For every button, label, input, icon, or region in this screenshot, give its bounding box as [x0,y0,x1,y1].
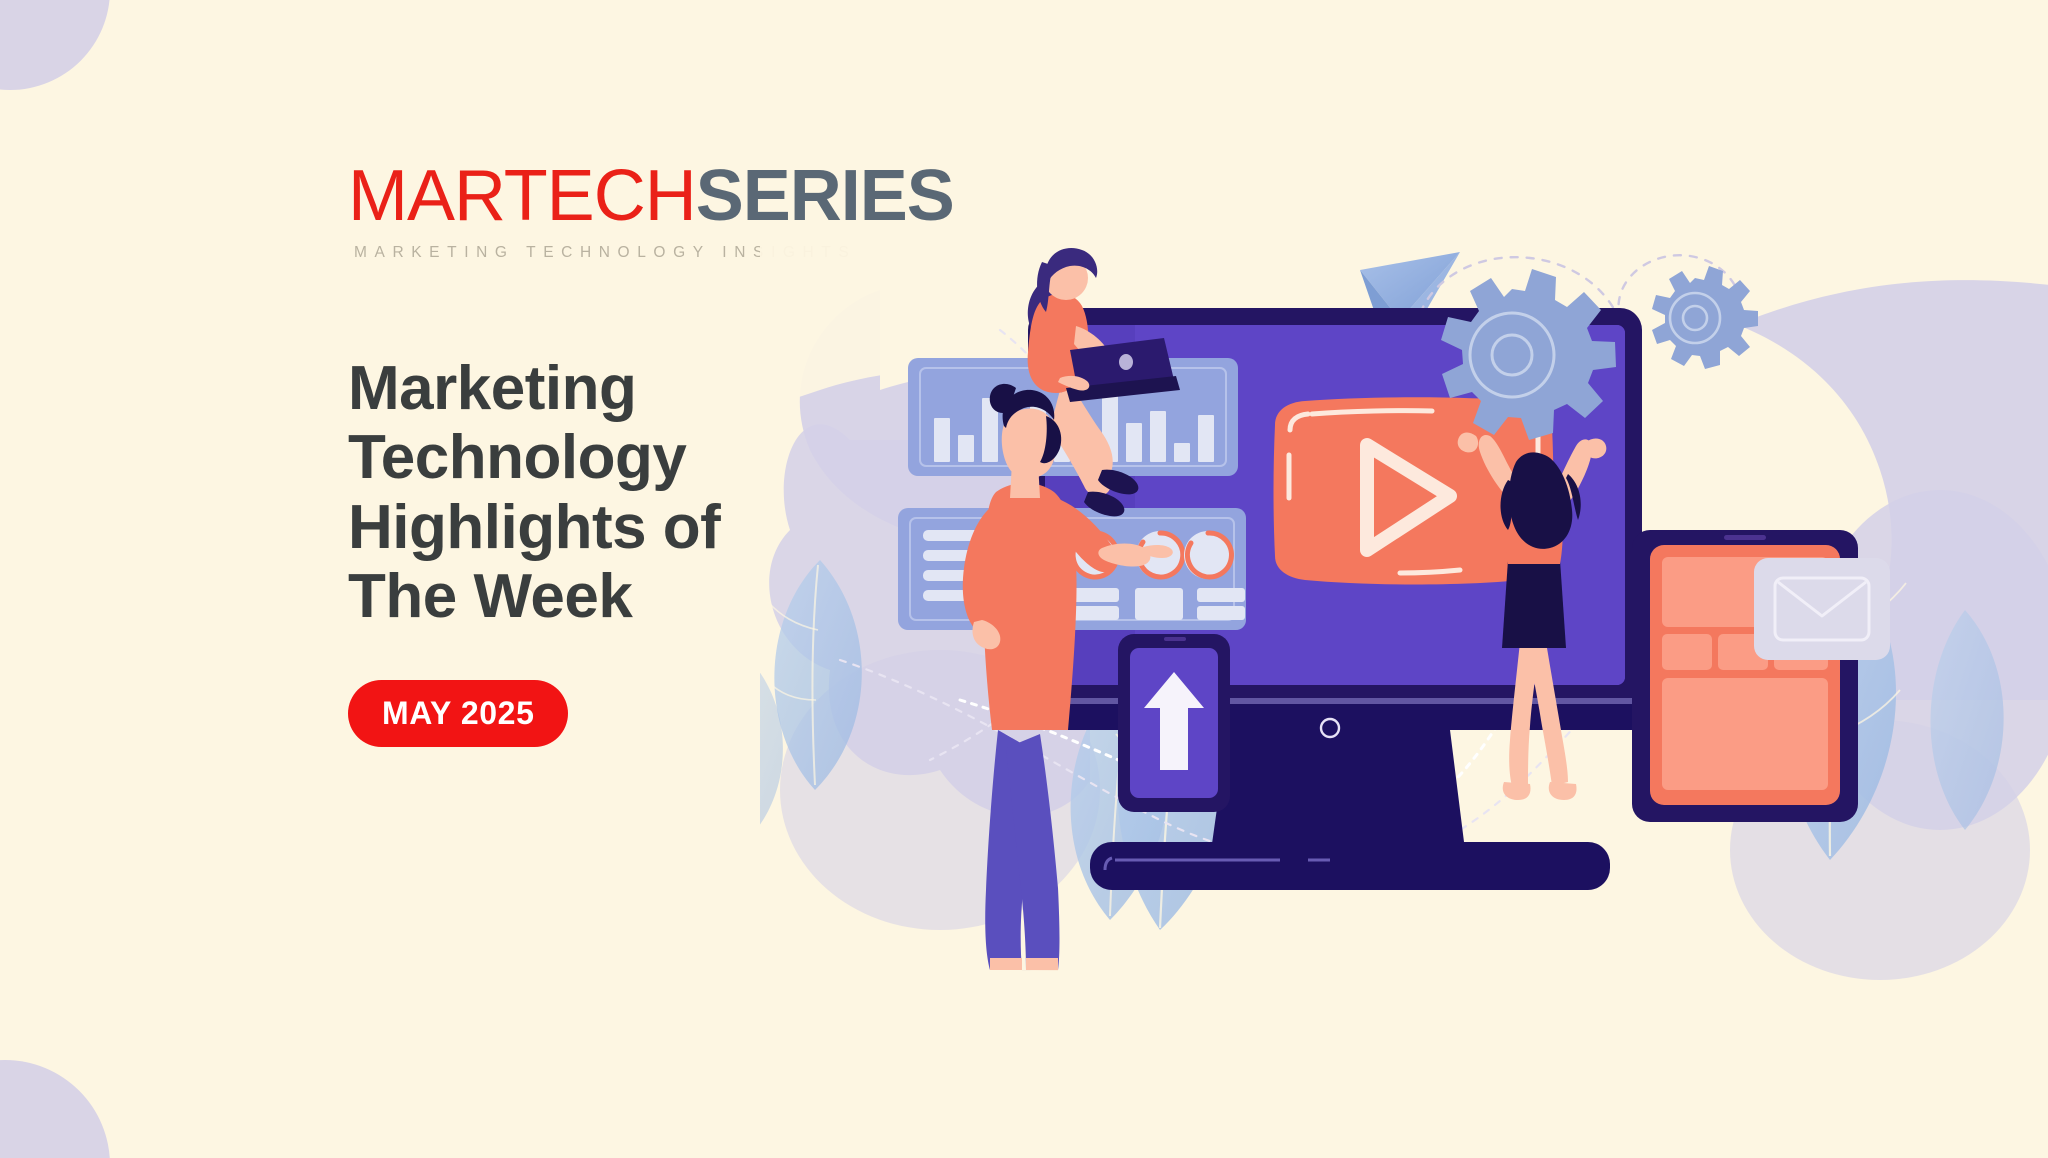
background-circle-bottom-left [0,1060,110,1158]
logo-wordmark: MARTECHSERIES [348,160,988,232]
background-circle-top-left [0,0,110,90]
issue-date-badge: MAY 2025 [348,680,568,747]
logo-martech-text: MARTECH [348,156,696,236]
floor-curve [760,970,2048,1040]
poster-canvas: MARTECHSERIES MARKETING TECHNOLOGY INSIG… [0,0,2048,1158]
hero-illustration [760,230,2048,1040]
email-card[interactable] [1754,558,1890,660]
smartphone-upload[interactable] [1118,634,1230,812]
logo-series-text: SERIES [696,156,954,236]
